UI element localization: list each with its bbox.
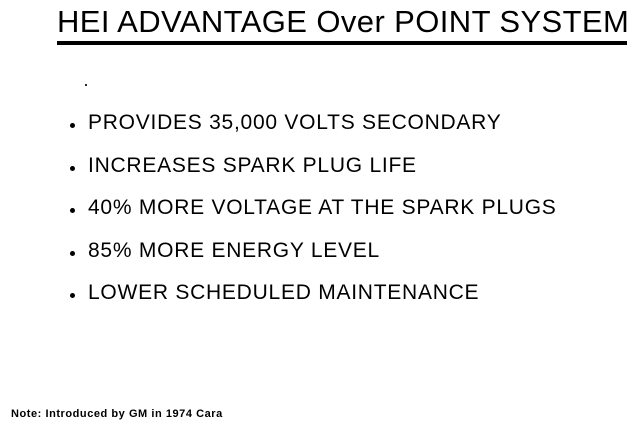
list-item: LOWER SCHEDULED MAINTENANCE bbox=[70, 282, 630, 325]
bullet-dot-icon bbox=[70, 293, 75, 298]
bullet-dot-icon bbox=[70, 123, 75, 128]
footnote-text: Note: Introduced by GM in 1974 Cara bbox=[11, 408, 223, 421]
list-item: INCREASES SPARK PLUG LIFE bbox=[70, 155, 630, 198]
bullet-list: PROVIDES 35,000 VOLTS SECONDARY INCREASE… bbox=[70, 112, 630, 325]
list-item: PROVIDES 35,000 VOLTS SECONDARY bbox=[70, 112, 630, 155]
bullet-dot-icon bbox=[70, 251, 75, 256]
page-title: HEI ADVANTAGE Over POINT SYSTEM bbox=[57, 6, 627, 38]
bullet-dot-icon bbox=[70, 208, 75, 213]
scan-artifact-speck bbox=[85, 84, 87, 86]
slide-title-block: HEI ADVANTAGE Over POINT SYSTEM bbox=[57, 6, 627, 45]
title-underline-rule bbox=[57, 41, 627, 45]
list-item-label: 85% MORE ENERGY LEVEL bbox=[88, 240, 630, 262]
list-item-label: INCREASES SPARK PLUG LIFE bbox=[88, 155, 630, 177]
list-item: 85% MORE ENERGY LEVEL bbox=[70, 240, 630, 283]
bullet-dot-icon bbox=[70, 166, 75, 171]
slide-canvas: HEI ADVANTAGE Over POINT SYSTEM PROVIDES… bbox=[0, 0, 640, 442]
list-item-label: PROVIDES 35,000 VOLTS SECONDARY bbox=[88, 112, 630, 134]
list-item-label: 40% MORE VOLTAGE AT THE SPARK PLUGS bbox=[88, 197, 630, 219]
list-item-label: LOWER SCHEDULED MAINTENANCE bbox=[88, 282, 630, 304]
list-item: 40% MORE VOLTAGE AT THE SPARK PLUGS bbox=[70, 197, 630, 240]
